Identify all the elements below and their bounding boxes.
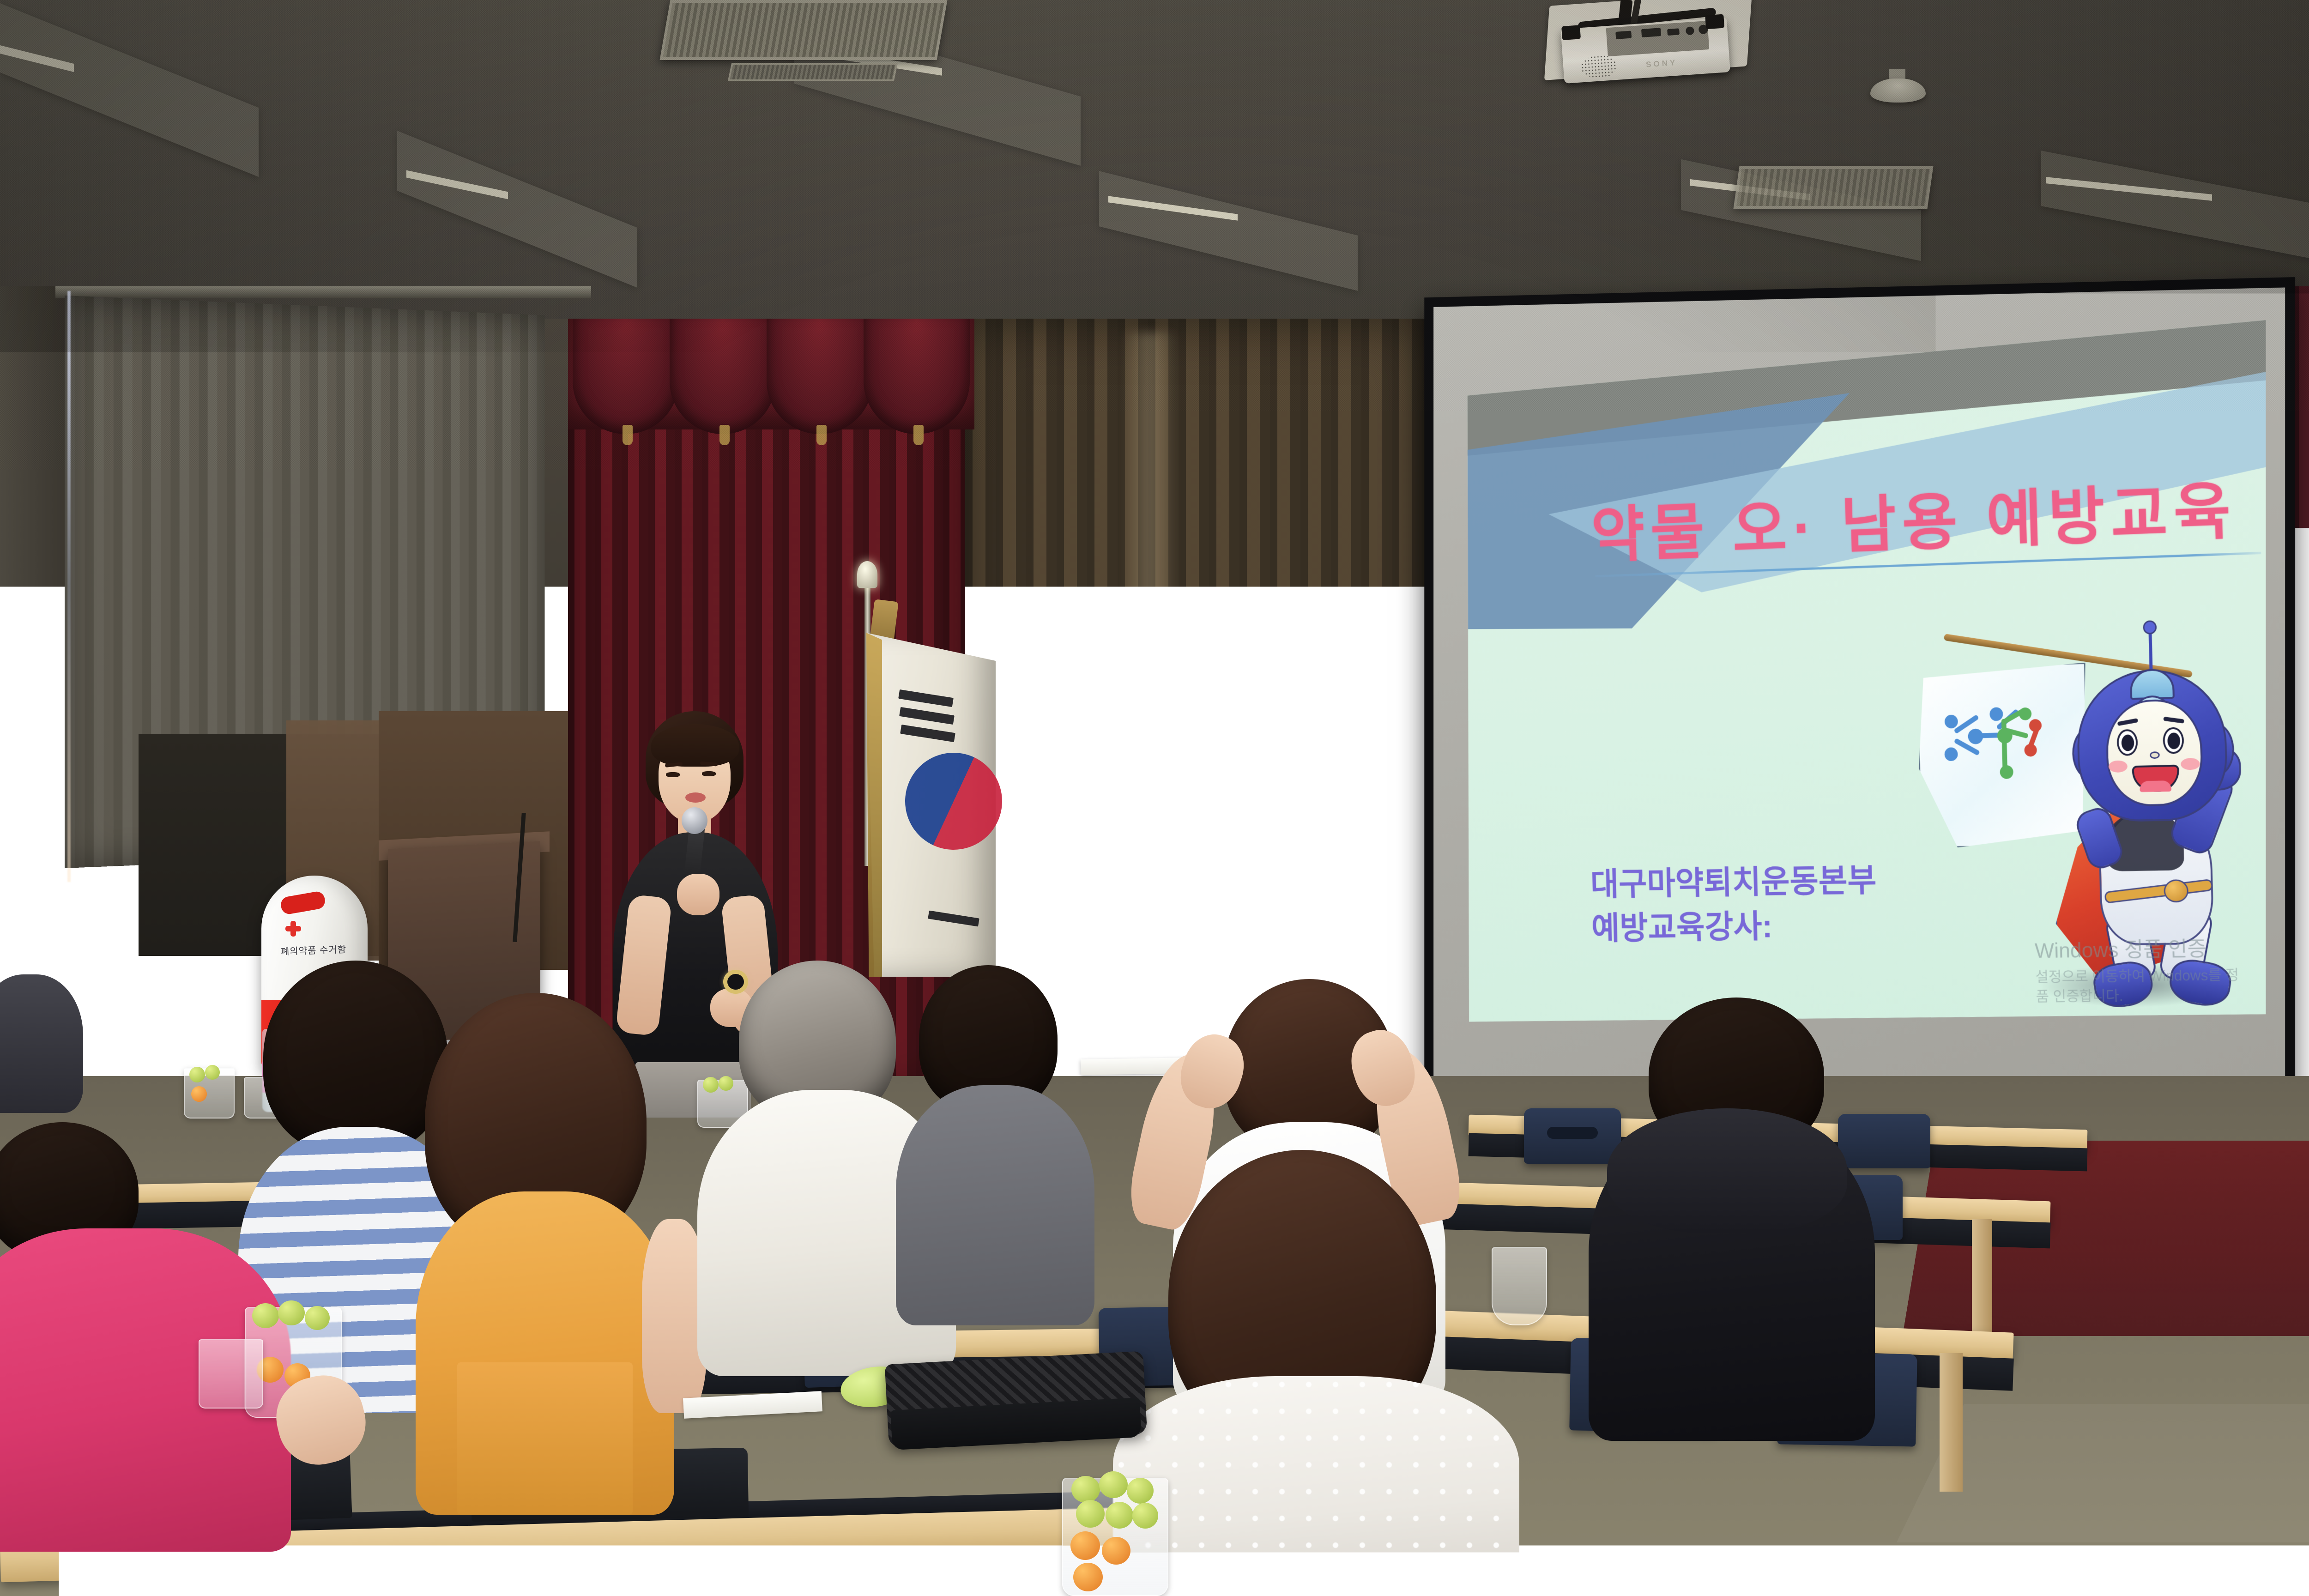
curtain-tassel-4 bbox=[913, 425, 924, 445]
grape-l1 bbox=[252, 1303, 279, 1328]
slide-subtitle: 대구마약퇴치운동본부 예방교육강사: bbox=[1590, 858, 1878, 952]
chair-slot-far-right-1 bbox=[1547, 1127, 1598, 1139]
curtain-swag-3 bbox=[767, 319, 873, 434]
tomato-f2 bbox=[1102, 1537, 1130, 1565]
ceiling-projector: SONY bbox=[1549, 0, 1748, 91]
projector-port-vga bbox=[1641, 28, 1661, 37]
ceiling-air-vent-small bbox=[728, 63, 898, 81]
presenter-hand-on-mic bbox=[677, 874, 719, 915]
grape-f6 bbox=[1132, 1503, 1158, 1529]
capsule-bin-label: 폐의약품 수거함 bbox=[270, 942, 358, 958]
grape-f2 bbox=[1099, 1471, 1128, 1498]
attendee-far-left-top bbox=[0, 974, 83, 1113]
lecture-hall-photo: SONY 약물 오· 남용 bbox=[0, 0, 2309, 1596]
watermark-line-1: Windows 정품 인증 bbox=[2035, 937, 2207, 962]
left-wall-panel bbox=[0, 286, 69, 914]
grape-f4 bbox=[1076, 1500, 1105, 1528]
molecule-atom-blue-4 bbox=[1989, 707, 2003, 721]
curtain-tassel-1 bbox=[623, 425, 633, 445]
slide-subtitle-line-2: 예방교육강사: bbox=[1591, 903, 1878, 952]
molecule-atom-red-1 bbox=[2029, 719, 2042, 732]
presenter-ring-brooch bbox=[723, 970, 748, 994]
capsule-bin-drop-slot bbox=[279, 890, 326, 915]
projector-foot-left bbox=[1561, 25, 1581, 40]
molecule-atom-blue-1 bbox=[1945, 714, 1958, 728]
grape-l2 bbox=[278, 1300, 305, 1325]
grape-b1 bbox=[189, 1067, 205, 1082]
curtain-tassel-3 bbox=[816, 425, 827, 445]
microphone-head bbox=[682, 807, 707, 834]
smoke-detector bbox=[1870, 79, 1926, 103]
mascot-antenna-tip bbox=[2143, 620, 2157, 635]
grape-b4 bbox=[719, 1076, 733, 1091]
presenter-eye-left bbox=[666, 772, 680, 777]
flagpole-finial bbox=[857, 561, 877, 588]
projection-screen: 약물 오· 남용 예방교육 대구마약퇴치운동본부 예방교육강사: bbox=[1424, 277, 2295, 1145]
watermark-line-2: 설정으로 이동하여 Windows를 정품 인증합니다. bbox=[2035, 965, 2249, 1007]
grape-b2 bbox=[205, 1065, 220, 1080]
ceiling-air-vent bbox=[660, 0, 948, 60]
water-cup-left bbox=[199, 1339, 263, 1409]
presentation-slide: 약물 오· 남용 예방교육 대구마약퇴치운동본부 예방교육강사: bbox=[1464, 316, 2266, 1036]
attendee-orange-shoulder bbox=[642, 1219, 707, 1413]
screen-surface: 약물 오· 남용 예방교육 대구마약퇴치운동본부 예방교육강사: bbox=[1433, 288, 2285, 1128]
medical-cross-icon bbox=[285, 921, 301, 937]
attendee-white-lace-shirt bbox=[1113, 1376, 1519, 1596]
grape-l3 bbox=[305, 1306, 330, 1330]
presenter-lips bbox=[685, 792, 706, 803]
molecule-atom-blue-2 bbox=[1944, 747, 1958, 761]
tomato-f3 bbox=[1073, 1563, 1103, 1591]
flag-gold-edge bbox=[866, 626, 882, 977]
grape-f5 bbox=[1106, 1502, 1133, 1529]
desk-leg-near-right bbox=[1940, 1353, 1963, 1492]
tomato-b1 bbox=[191, 1086, 207, 1102]
molecule-atom-green-2 bbox=[2019, 707, 2032, 720]
grape-b3 bbox=[703, 1077, 719, 1093]
chair-far-right-3[interactable] bbox=[1838, 1114, 1930, 1168]
blinds-rail bbox=[55, 286, 591, 298]
presenter-eye-right bbox=[702, 771, 716, 776]
slide-subtitle-line-1: 대구마약퇴치운동본부 bbox=[1590, 858, 1877, 907]
attendee-black-ruffle-collar bbox=[1607, 1108, 1847, 1233]
projector-foot-right bbox=[1705, 14, 1724, 30]
ceiling-air-vent-right bbox=[1734, 166, 1934, 209]
mascot-tongue bbox=[2140, 780, 2171, 792]
presenter-bangs bbox=[651, 724, 739, 767]
molecule-atom-blue-3 bbox=[1968, 729, 1983, 744]
curtain-swag-2 bbox=[670, 319, 776, 434]
molecule-atom-green-1 bbox=[1997, 728, 2013, 744]
curtain-swag-1 bbox=[573, 319, 679, 434]
tomato-f1 bbox=[1070, 1531, 1100, 1560]
molecule-atom-green-3 bbox=[2000, 765, 2013, 779]
curtain-swag-4 bbox=[864, 319, 970, 434]
molecule-atom-red-2 bbox=[2024, 744, 2037, 756]
attendee-striped-hair bbox=[263, 961, 448, 1155]
grape-f3 bbox=[1127, 1478, 1154, 1504]
attendee-dark-grey-shirt bbox=[896, 1085, 1094, 1325]
projector-port-usb bbox=[1667, 28, 1680, 36]
windows-activation-watermark: Windows 정품 인증 설정으로 이동하여 Windows를 정품 인증합니… bbox=[2034, 934, 2248, 1007]
projector-port-hdmi bbox=[1615, 31, 1632, 39]
attendee-orange-vest-panel bbox=[457, 1362, 633, 1515]
mascot-flag-cloth bbox=[1916, 663, 2090, 848]
brown-curtain-light-streak bbox=[1122, 332, 1178, 1053]
projector-speaker-grille bbox=[1580, 54, 1618, 79]
grape-f1 bbox=[1071, 1476, 1100, 1503]
drink-cup-right bbox=[1492, 1247, 1547, 1325]
curtain-tassel-2 bbox=[719, 425, 730, 445]
wall-edge-highlight bbox=[67, 291, 71, 882]
